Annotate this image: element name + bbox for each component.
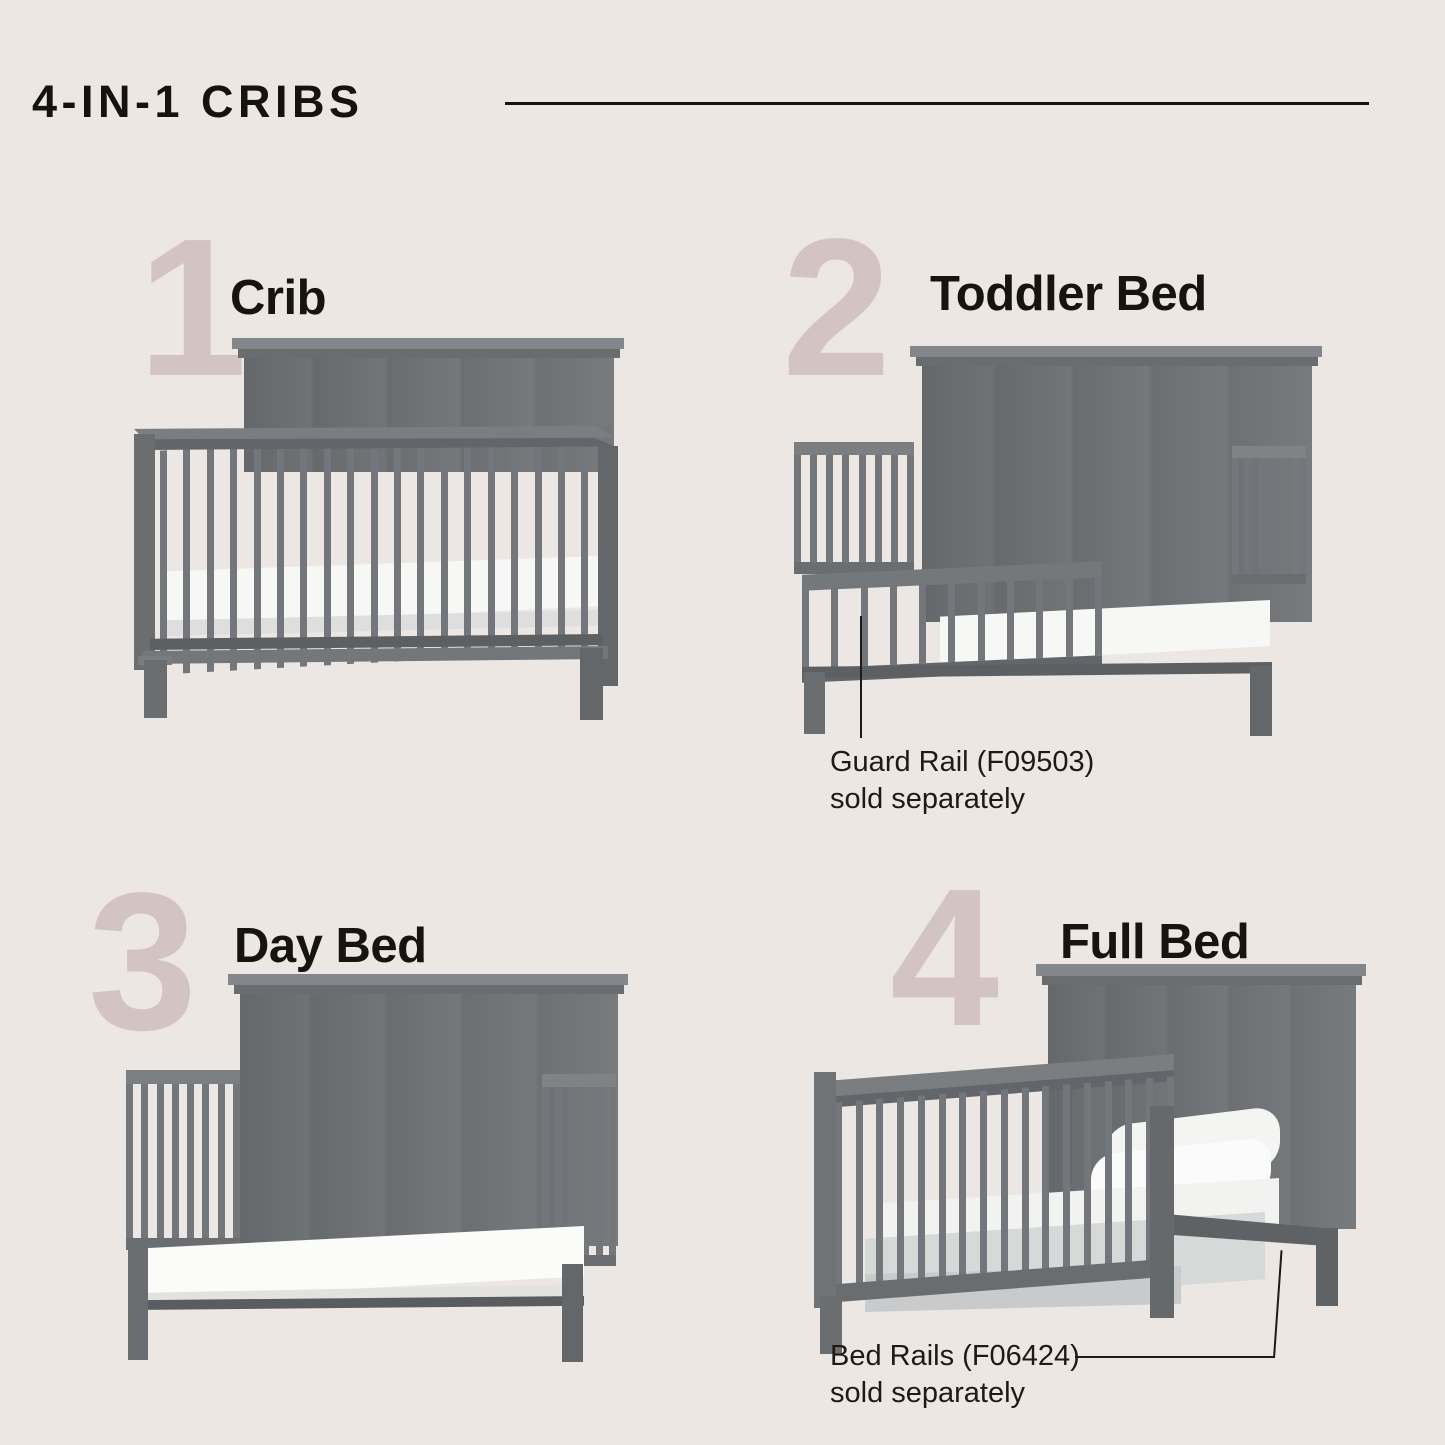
panel-day-bed: 3 Day Bed — [60, 856, 700, 1416]
daybed-headboard-cap — [228, 974, 628, 985]
footboard-slat-group — [814, 1076, 1174, 1288]
crib-illustration — [120, 338, 660, 758]
panel-toddler-bed: 2 Toddler Bed — [760, 196, 1400, 836]
crib-leg-right — [580, 648, 603, 720]
page-header: 4-IN-1 CRIBS — [32, 72, 1405, 132]
guard-rail-annotation-line1: Guard Rail (F09503) — [830, 744, 1094, 781]
day-bed-illustration — [110, 974, 670, 1394]
step-label-crib: Crib — [230, 270, 326, 326]
page-title: 4-IN-1 CRIBS — [32, 72, 364, 132]
crib-front-slat-group — [160, 438, 612, 662]
toddler-leg-right — [1250, 666, 1272, 736]
daybed-left-side-rail — [126, 1070, 240, 1250]
fullbed-headboard-cap — [1036, 964, 1366, 976]
panel-crib: 1 Crib — [96, 196, 706, 786]
crib-left-post — [134, 434, 155, 670]
toddler-leg-left — [804, 672, 825, 734]
fullbed-footboard — [814, 1068, 1174, 1308]
fullbed-headboard-cap-shadow — [1042, 976, 1362, 985]
guard-rail-annotation: Guard Rail (F09503) sold separately — [830, 744, 1094, 818]
step-label-day-bed: Day Bed — [234, 918, 427, 974]
toddler-left-side-rail — [794, 442, 914, 574]
fullbed-leg-right — [1316, 1228, 1338, 1306]
bed-rails-annotation: Bed Rails (F06424) sold separately — [830, 1338, 1080, 1412]
panel-full-bed: 4 Full Bed — [790, 856, 1420, 1426]
crib-headboard-cap-shadow — [238, 349, 620, 358]
toddler-bed-illustration — [780, 346, 1340, 776]
guard-rail-annotation-line2: sold separately — [830, 781, 1094, 818]
bed-rails-annotation-line2: sold separately — [830, 1375, 1080, 1412]
guard-rail — [802, 568, 1102, 676]
title-divider-rule — [505, 102, 1369, 105]
bed-rails-annotation-line1: Bed Rails (F06424) — [830, 1338, 1080, 1375]
daybed-headboard-cap-shadow — [234, 985, 624, 994]
toddler-headboard-cap — [910, 346, 1322, 357]
daybed-leg-right — [562, 1264, 583, 1362]
crib-leg-left — [144, 660, 167, 718]
full-bed-illustration — [800, 964, 1380, 1394]
guard-rail-leader-line — [860, 616, 862, 738]
crib-headboard-cap — [232, 338, 624, 349]
footboard-right-post — [1150, 1106, 1174, 1318]
step-label-toddler-bed: Toddler Bed — [930, 266, 1207, 322]
toddler-right-side-rail — [1232, 446, 1306, 584]
toddler-headboard-cap-shadow — [916, 357, 1318, 366]
daybed-leg-left — [128, 1242, 148, 1360]
footboard-left-post — [814, 1072, 836, 1308]
infographic-page: 4-IN-1 CRIBS 1 Crib — [0, 0, 1445, 1445]
bed-rails-leader-horizontal — [1075, 1356, 1275, 1358]
step-label-full-bed: Full Bed — [1060, 914, 1249, 970]
